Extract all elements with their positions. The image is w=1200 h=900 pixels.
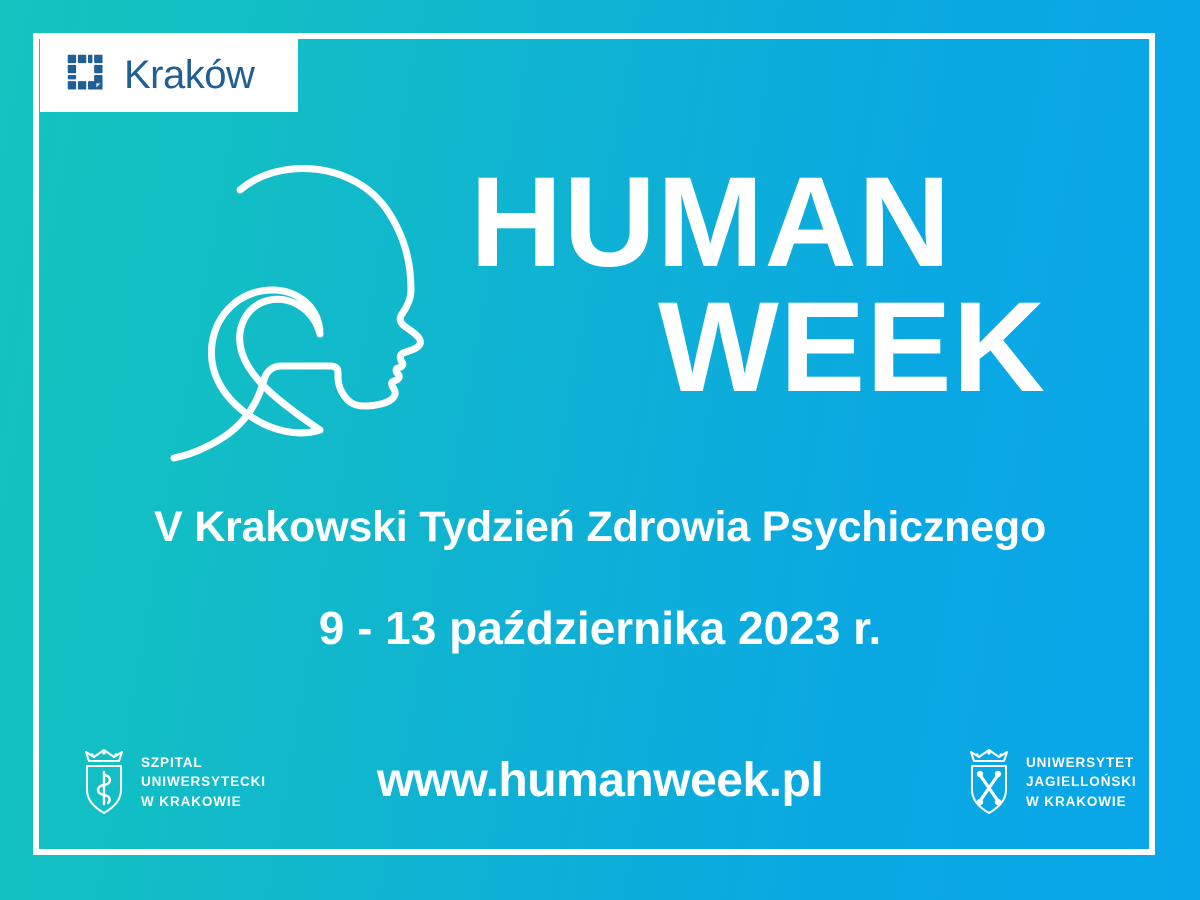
- hero-line-week: WEEK: [470, 285, 1050, 410]
- partner-logo-hospital: SZPITAL UNIWERSYTECKI W KRAKOWIE: [78, 748, 266, 816]
- krakow-tiles-icon: [66, 53, 110, 97]
- jagiellonian-crest-icon: [963, 748, 1015, 816]
- krakow-city-logo: Kraków: [40, 38, 298, 112]
- poster-subtitle: V Krakowski Tydzień Zdrowia Psychicznego: [0, 503, 1200, 552]
- partner-university-name: UNIWERSYTET JAGIELLOŃSKI W KRAKOWIE: [1026, 753, 1137, 810]
- partner-university-line-3: W KRAKOWIE: [1026, 792, 1137, 811]
- partner-hospital-line-2: UNIWERSYTECKI: [141, 772, 266, 791]
- face-profile-heart-line-icon: [168, 148, 460, 478]
- partner-hospital-name: SZPITAL UNIWERSYTECKI W KRAKOWIE: [141, 753, 266, 810]
- partner-university-line-2: JAGIELLOŃSKI: [1026, 772, 1137, 791]
- partner-university-line-1: UNIWERSYTET: [1026, 753, 1137, 772]
- hospital-crest-icon: [78, 748, 130, 816]
- poster-dates: 9 - 13 października 2023 r.: [0, 601, 1200, 655]
- hero-wordmark: HUMAN WEEK: [470, 160, 1050, 411]
- partner-hospital-line-3: W KRAKOWIE: [141, 792, 266, 811]
- event-poster: Kraków HUMAN WEEK V Krakowski Tydzień Zd…: [0, 0, 1200, 900]
- partner-logo-university: UNIWERSYTET JAGIELLOŃSKI W KRAKOWIE: [963, 748, 1137, 816]
- partner-hospital-line-1: SZPITAL: [141, 753, 266, 772]
- hero-line-human: HUMAN: [470, 160, 1050, 285]
- krakow-wordmark: Kraków: [124, 55, 254, 95]
